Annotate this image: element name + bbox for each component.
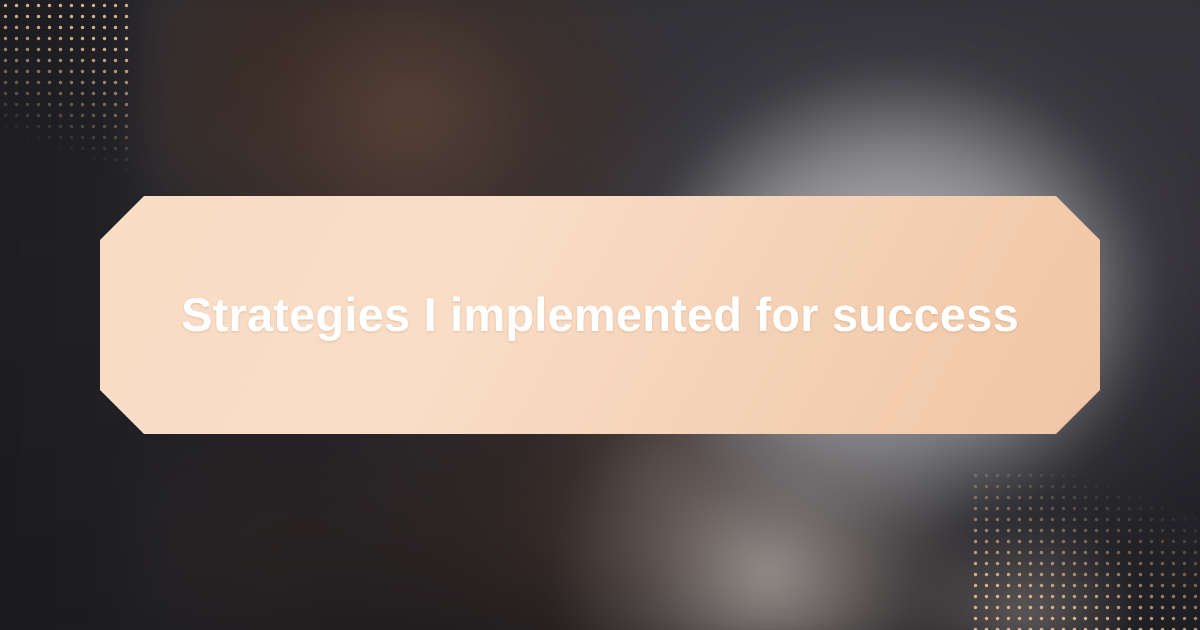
halftone-dots-bottom-right-icon <box>970 470 1200 630</box>
image-canvas: Strategies I implemented for success <box>0 0 1200 630</box>
halftone-dots-top-left-icon <box>0 0 132 200</box>
banner-title: Strategies I implemented for success <box>170 286 1030 344</box>
title-banner: Strategies I implemented for success <box>100 196 1100 434</box>
